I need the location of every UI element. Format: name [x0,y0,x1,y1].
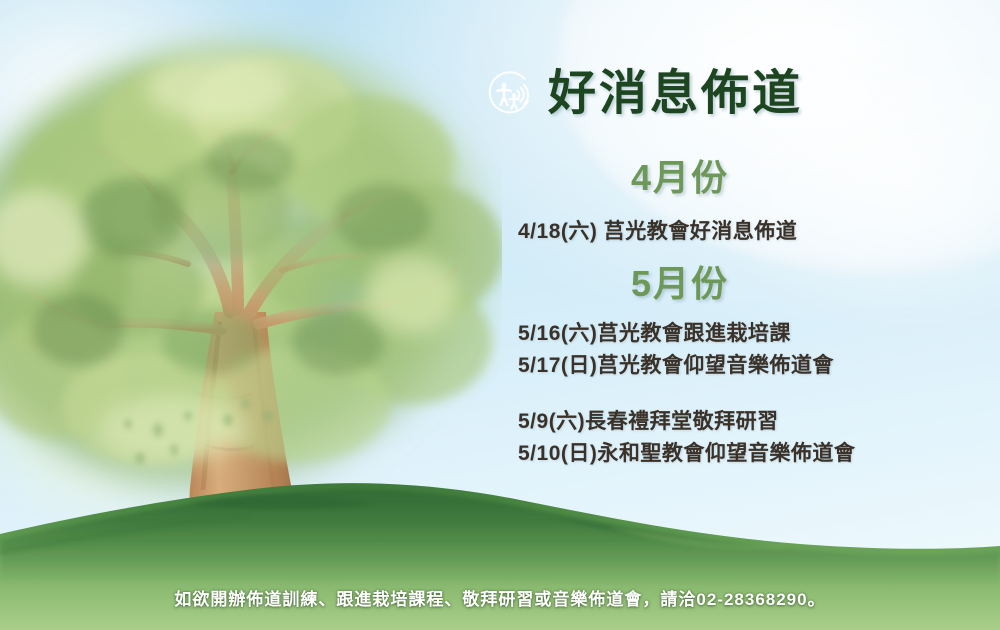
poster-canvas: 好消息佈道 4月份 4/18(六) 莒光教會好消息佈道 5月份 5/16(六)莒… [0,0,1000,630]
schedule-entry: 5/9(六)長春禮拜堂敬拜研習 [518,411,779,432]
month-heading-may: 5月份 [430,266,930,302]
broadcast-person-icon [488,70,536,118]
schedule-entry: 4/18(六) 莒光教會好消息佈道 [518,221,797,242]
month-heading-april: 4月份 [430,160,930,196]
schedule-entry: 5/10(日)永和聖教會仰望音樂佈道會 [518,443,855,464]
schedule-entry: 5/17(日)莒光教會仰望音樂佈道會 [518,355,834,376]
page-title: 好消息佈道 [548,70,803,118]
footer-note: 如欲開辦佈道訓練、跟進栽培課程、敬拜研習或音樂佈道會，請洽02-28368290… [0,585,1000,610]
schedule-entry: 5/16(六)莒光教會跟進栽培課 [518,323,791,344]
poster-header: 好消息佈道 [488,58,988,130]
schedule-content: 好消息佈道 4月份 4/18(六) 莒光教會好消息佈道 5月份 5/16(六)莒… [488,0,1000,630]
